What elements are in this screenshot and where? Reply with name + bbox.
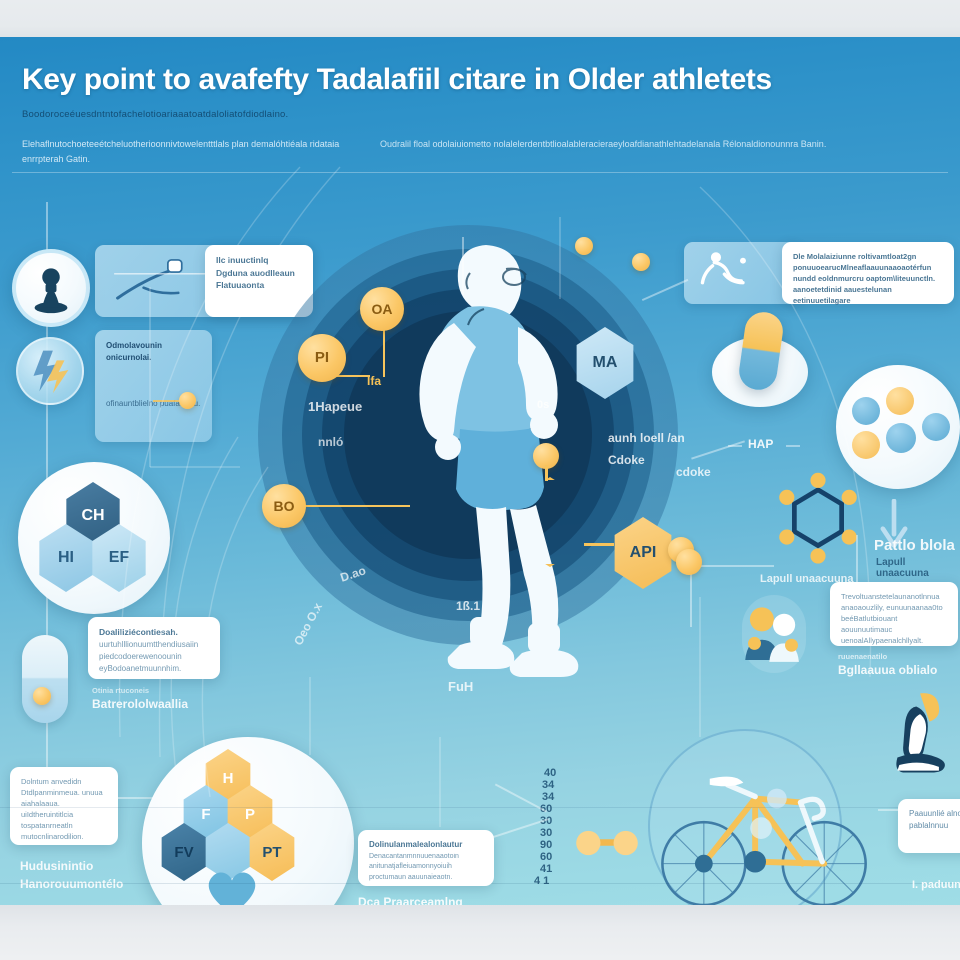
two-people-icon [736,599,810,673]
mid-left-card[interactable]: Odmolavounin onicurnolai. ofinauntblieln… [95,330,212,442]
axis-tick: 30 [540,815,580,827]
axis-tick: 34 [542,779,582,791]
bottom-rule-upper [0,807,960,808]
icon-badge-pawn[interactable] [12,249,90,327]
dosage-card-body: uurtuhlllionuumtthendiusaiin piedcodoere… [99,639,209,675]
dumbbell-icon [574,829,640,857]
hex-cell-hi-label: HI [58,549,74,567]
small-capsule-left [22,635,68,723]
benzene-to-api [584,543,614,546]
center-callout-right-1: 0s [537,399,549,411]
mid-left-card-connector [153,400,179,402]
dosage-card-caption-big: Batrerololwaallia [92,697,188,711]
icon-badge-lightning[interactable] [16,337,84,405]
axis-tick-list: 40 34 34 60 30 30 90 60 41 4 1 [530,767,570,887]
benzene-stem [545,465,548,481]
bottom-center-card[interactable]: Dolinulanmalealonlautur Denacantanmnnuue… [358,830,494,886]
two-people-label: Lapull unaacuuna [760,573,854,585]
bead-top-1 [575,237,593,255]
dosage-card-title: Doaliliziécontiesah. [99,626,209,639]
header-subtitle: Boodoroceéuesdntntofachelotioariaaatoatd… [22,109,642,120]
right-connector-1 [642,279,688,301]
infographic-poster: Key point to avafefty Tadalafiil citare … [0,37,960,905]
hex-cell-ch-label: CH [81,507,104,525]
benzene-molecule-icon [766,469,870,573]
page-title: Key point to avafefty Tadalafiil citare … [22,63,922,97]
node-pi-label: PI [315,349,329,366]
bottom-right-card[interactable]: Paauunlié alnomnnuit pablalnnuu [898,799,960,853]
top-right-card-text: Dle Molalaiziunne roltivamtloat2gn ponuu… [793,251,943,306]
bead-right-mid [676,549,702,575]
bottom-right-connector [878,809,902,811]
hex-cell-h-label: H [223,770,234,787]
hap-label: HAP [748,437,773,451]
hex-api-label: API [630,544,657,562]
bottom-right-card-body: Paauunlié alnomnnuit pablalnnuu [909,808,960,832]
right-mid-connector [856,535,858,587]
small-capsule-left-node [33,687,51,705]
hex-cell-fv-label: FV [174,844,193,861]
right-mid-caption-big: Bgllaauua oblialo [838,663,937,677]
right-mid-card[interactable]: Trevoltuanstetelaunanotlnnua anaoaouzlil… [830,582,958,646]
poster-header: Key point to avafefty Tadalafiil citare … [0,37,960,177]
running-legs-icon [888,689,954,775]
chess-pawn-icon [16,253,86,323]
node-bo[interactable]: BO [262,484,306,528]
top-page-margin [0,0,960,37]
right-mid-subtitle: Lapull unaacuuna [876,557,960,579]
center-callout-near-left-sub: nnló [318,435,343,449]
bottom-page-margin [0,905,960,960]
axis-tick: 40 [544,767,584,779]
axis-tick: 4 1 [534,875,574,887]
cdoke-label: cdoke [676,465,711,479]
hex-cell-pt-label: PT [262,844,281,861]
dosage-card[interactable]: Doaliliziécontiesah. uurtuhlllionuumtthe… [88,617,220,679]
dosage-card-caption-small: Otinia rtuconeis [92,685,149,697]
people-connector-h [690,565,774,567]
bottom-center-card-title: Dolinulanmalealonlautur [369,839,483,852]
node-oa-label: OA [372,301,393,317]
header-right-column: Oudralil floal odolaiuiometto nolalelerd… [380,137,940,152]
hap-dash-left [728,445,742,447]
bottom-left-caption-big: Hudusinintio Hanorouumontélo [20,857,130,893]
axis-tick: 34 [542,791,582,803]
axis-tick: 41 [540,863,580,875]
bottom-left-card[interactable]: Dolntum anvedidn Dtdlpanminmeua. unuua a… [10,767,118,845]
center-callout-near-left: 1Hapeue [308,399,362,414]
bottom-left-card-body: Dolntum anvedidn Dtdlpanminmeua. unuua a… [21,776,107,842]
node-bo-label: BO [274,498,295,514]
node-bo-connector [290,505,410,507]
header-divider [12,172,948,173]
axis-tick: 60 [540,803,580,815]
center-callout-low-left-3: FuH [448,679,473,694]
top-left-card-text: Ilc inuuctinlq Dgduna auodlleaun Flatuua… [216,254,302,292]
top-right-text-card: Dle Molalaiziunne roltivamtloat2gn ponuu… [782,242,954,304]
top-left-text-card: Ilc inuuctinlq Dgduna auodlleaun Flatuua… [205,245,313,317]
mid-left-card-node [179,392,196,409]
heart-icon [200,859,264,905]
right-mid-title: Pattlo blola [874,537,955,554]
right-mid-caption-small: ruuenaenatilo [838,651,887,663]
bottom-right-caption-big: I. paduun arusitia [912,877,960,893]
hex-ma-label: MA [593,354,618,372]
center-callout-low-center: 1ß.1 [456,599,480,613]
right-mid-card-body: Trevoltuanstetelaunanotlnnua anaoaouzlil… [841,591,947,646]
node-oa[interactable]: OA [360,287,404,331]
node-pi[interactable]: PI [298,334,346,382]
header-left-column: Elehaflnutochoeteeétcheluotherioonnivtow… [22,137,372,167]
hex-cell-ef-label: EF [109,549,129,567]
stretching-athlete-illustration [694,248,770,292]
bottom-center-caption-big: Dca Praarceamlng [358,895,463,905]
lightning-bolt-icon [18,339,80,401]
bead-top-2 [632,253,650,271]
center-top-tick [462,237,464,295]
mid-left-card-title: Odmolavounin onicurnolai. [106,340,202,364]
hap-dash-right [786,445,800,447]
bottom-center-card-body: Denacantanmnnuuenaaotoin anitunatjafleiu… [369,852,483,884]
